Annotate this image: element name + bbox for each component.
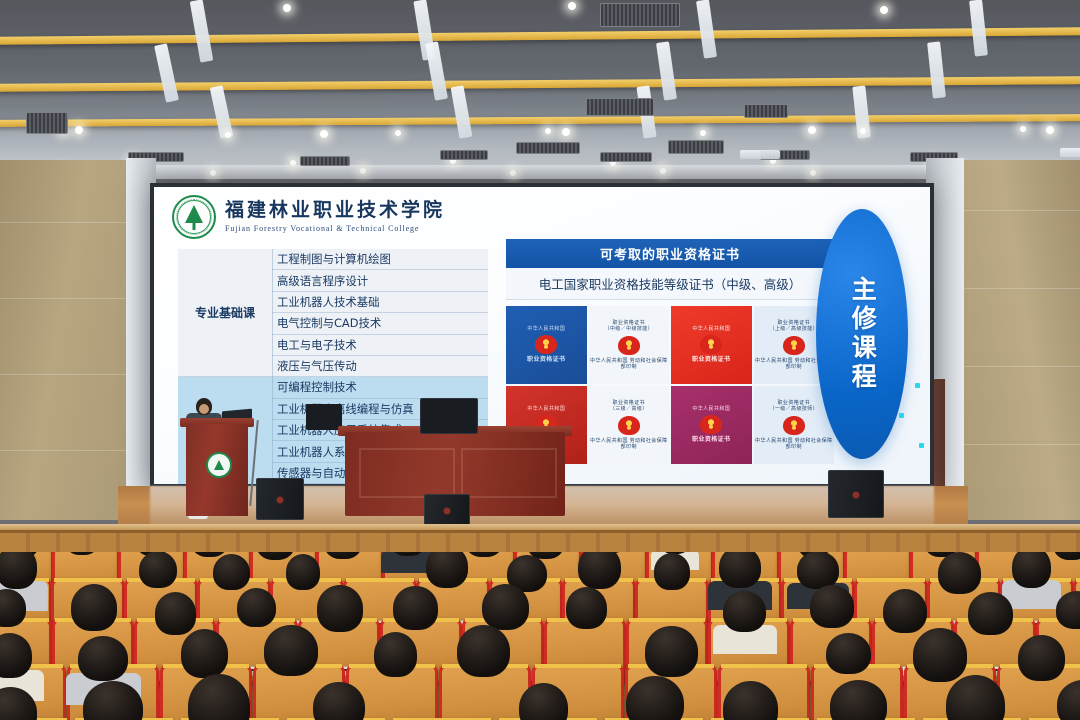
certificate-thumbnail: 中华人民共和国职业资格证书 [506,306,587,384]
audience-member-head [719,552,761,588]
audience-member-head [913,628,968,682]
main-courses-badge: 主修课程 [816,209,908,459]
course-row: 专业课可编程控制技术 [178,377,488,398]
certificates-title: 可考取的职业资格证书 [506,239,834,268]
ceiling-downlight-icon [283,4,291,12]
decor-dot-icon [899,413,904,418]
college-seal-icon [206,452,232,478]
audience-member-head [78,636,128,681]
audience-member-head [317,585,363,631]
ceiling-downlight-icon [562,128,570,136]
stage-speaker-center [424,494,470,526]
ceiling-air-vent [440,150,488,160]
audience-member-head [286,554,321,590]
ceiling-air-vent [668,140,724,154]
ceiling-downlight-icon [1046,126,1054,134]
course-row: 专业基础课工程制图与计算机绘图 [178,249,488,270]
certificate-top-text: 中华人民共和国 [527,326,565,332]
certificate-top-text: 中华人民共和国 [692,406,730,412]
ceiling-downlight-icon [395,130,401,136]
audience-seating [0,552,1080,720]
certificate-top-text: 职业资格证书 （三级／高级） [610,400,648,413]
ceiling-downlight-icon [210,170,216,176]
audience-member-head [797,552,839,589]
audience-member-head [155,592,197,635]
audience-member-head [1012,552,1052,588]
ceiling-downlight-icon [660,168,666,174]
ceiling-downlight-icon [290,160,296,166]
ceiling-downlight-icon [360,168,366,174]
audience-member-head [457,625,510,677]
ceiling-air-vent [26,112,68,134]
decor-dot-icon [919,443,924,448]
ceiling-downlight-icon [75,126,83,134]
ceiling-light-panel [425,41,448,100]
course-name: 电气控制与CAD技术 [273,313,489,334]
audience-member-head [374,632,417,677]
ceiling [0,0,1080,176]
audience-member-head [181,629,228,678]
certificate-top-text: 中华人民共和国 [527,406,565,412]
audience-member-head [71,584,117,631]
ceiling-light-panel [190,0,214,63]
ceiling-downlight-icon [1020,126,1026,132]
certificates-subtitle: 电工国家职业资格技能等级证书（中级、高级） [506,268,834,300]
audience-member-head [393,586,437,630]
national-emblem-icon [618,336,640,355]
slide-header: 福建林业职业技术学院 Fujian Forestry Vocational & … [172,195,445,239]
certificate-bottom-text: 中华人民共和国 劳动和社会保障部印制 [589,358,670,371]
audience-member-head [883,589,926,634]
school-name-cn: 福建林业职业技术学院 [225,201,445,222]
certificate-bottom-text: 中华人民共和国 劳动和社会保障部印制 [589,438,670,451]
audience-member-head [237,588,276,628]
ceiling-light-strip [740,150,780,159]
ceiling-downlight-icon [225,132,231,138]
certificate-thumbnail: 中华人民共和国职业资格证书 [671,306,752,384]
course-name: 可编程控制技术 [273,377,489,398]
course-name: 高级语言程序设计 [273,270,489,291]
certificate-bottom-text: 职业资格证书 [527,357,565,365]
audience-member-head [654,553,690,590]
right-wall-panel [962,160,1080,520]
stage-speaker-left [256,478,304,520]
audience-member-head [426,552,469,588]
national-emblem-icon [700,415,722,434]
audience-member-head [826,633,871,674]
audience-member-head [578,552,621,589]
audience-member-head [968,592,1013,635]
ceiling-air-vent [516,142,580,154]
audience-member-head [213,554,250,591]
ceiling-light-panel [927,41,946,98]
ceiling-downlight-icon [568,2,576,10]
national-emblem-icon [618,416,640,435]
ceiling-light-panel [696,0,717,59]
certificate-thumbnail: 职业资格证书 （中级／中级技能）中华人民共和国 劳动和社会保障部印制 [589,306,670,384]
ceiling-downlight-icon [860,128,866,134]
audience-member-head [1018,635,1065,681]
audience-member-head [139,552,178,588]
school-name-en: Fujian Forestry Vocational & Technical C… [225,224,445,233]
main-courses-badge-label: 主修课程 [847,276,878,392]
audience-member-head [264,625,318,676]
audience-member-head [566,587,607,629]
course-group-label: 专业基础课 [178,249,273,377]
ceiling-air-vent [300,156,350,166]
certificate-top-text: 职业资格证书 （上级／高级技能） [769,320,818,333]
ceiling-light-panel [656,41,677,100]
ceiling-light-panel [154,43,179,102]
audience-member-head [482,584,529,631]
certificate-top-text: 职业资格证书 （一级／高级技师） [769,400,818,413]
national-emblem-icon [783,336,805,355]
audience-member-head [938,552,981,594]
ceiling-air-vent [586,98,654,116]
ceiling-downlight-icon [320,130,328,138]
course-name: 电工与电子技术 [273,334,489,355]
ceiling-light-panel [969,0,988,57]
certificate-top-text: 中华人民共和国 [692,326,730,332]
ceiling-air-vent [600,152,652,162]
certificate-bottom-text: 中华人民共和国 劳动和社会保障部印制 [754,438,835,451]
ceiling-downlight-icon [808,126,816,134]
stage-monitor-small [306,404,342,430]
decor-dot-icon [915,383,920,388]
course-name: 工程制图与计算机绘图 [273,249,489,270]
certificate-bottom-text: 职业资格证书 [692,357,730,365]
auditorium-scene: 福建林业职业技术学院 Fujian Forestry Vocational & … [0,0,1080,720]
ceiling-light-strip [1060,148,1080,157]
certificate-bottom-text: 职业资格证书 [692,437,730,445]
presenter-face [199,404,209,414]
stage-speaker-right [828,470,884,518]
forestry-college-seal-icon [172,195,216,239]
course-name: 液压与气压传动 [273,355,489,376]
ceiling-downlight-icon [880,6,888,14]
audience-member-head [810,585,855,627]
audience-member-head [0,552,37,589]
audience-member-head [723,591,766,632]
ceiling-soffit [0,165,1080,179]
certificate-thumbnail: 职业资格证书 （三级／高级）中华人民共和国 劳动和社会保障部印制 [589,386,670,464]
national-emblem-icon [535,335,557,354]
course-name: 工业机器人技术基础 [273,291,489,312]
ceiling-air-vent [744,104,788,118]
national-emblem-icon [700,335,722,354]
certificate-thumbnail: 中华人民共和国职业资格证书 [671,386,752,464]
certificate-top-text: 职业资格证书 （中级／中级技能） [604,320,653,333]
ceiling-gold-band [0,27,1080,45]
audience-member-head [645,626,697,677]
ceiling-downlight-icon [810,170,816,176]
ceiling-air-vent [600,3,680,27]
ceiling-downlight-icon [510,170,516,176]
left-wall-panel [0,160,132,520]
national-emblem-icon [783,416,805,435]
stage-monitor [420,398,478,434]
ceiling-downlight-icon [545,128,551,134]
ceiling-downlight-icon [700,130,706,136]
